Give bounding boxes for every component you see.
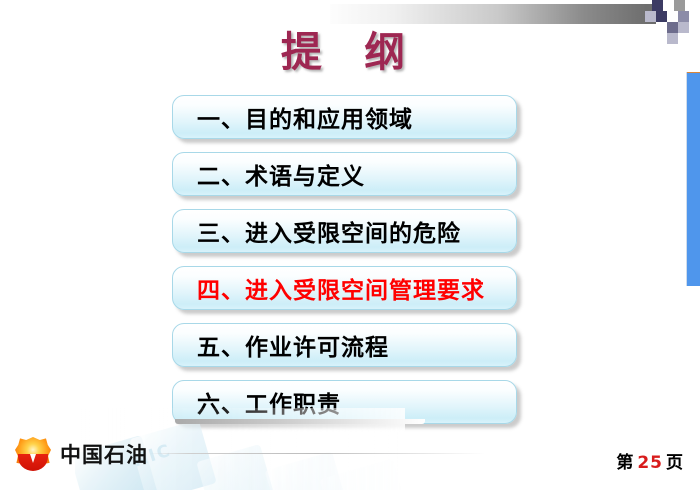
outline-item-label: 三、进入受限空间的危险 [173,214,461,248]
checker-block [663,0,674,11]
outline-item-1[interactable]: 一、目的和应用领域 [172,95,517,139]
blue-accent-bar [687,72,700,286]
outline-item-4-active[interactable]: 四、进入受限空间管理要求 [172,266,517,310]
footer-grey-bar [175,419,425,424]
brand-name: 中国石油 [60,439,148,469]
outline-item-label: 一、目的和应用领域 [173,100,413,134]
outline-item-5[interactable]: 五、作业许可流程 [172,323,517,367]
outline-item-3[interactable]: 三、进入受限空间的危险 [172,209,517,253]
checker-block [652,0,663,11]
outline-item-label: 五、作业许可流程 [173,328,389,362]
page-number: 第25页 [616,448,684,473]
footer-divider [148,453,486,454]
brand-logo-block: 中国石油 [14,435,148,473]
page-number-prefix: 第 [616,453,634,473]
presentation-slide: 提 纲 一、目的和应用领域 二、术语与定义 三、进入受限空间的危险 四、进入受限… [0,0,700,490]
outline-item-label: 二、术语与定义 [173,157,365,191]
page-number-value: 25 [634,453,666,473]
outline-item-label: 四、进入受限空间管理要求 [173,271,485,305]
petrochina-logo-icon [14,435,52,473]
page-title: 提 纲 [0,18,700,78]
page-number-suffix: 页 [666,453,684,473]
checker-block [674,0,685,11]
outline-item-2[interactable]: 二、术语与定义 [172,152,517,196]
